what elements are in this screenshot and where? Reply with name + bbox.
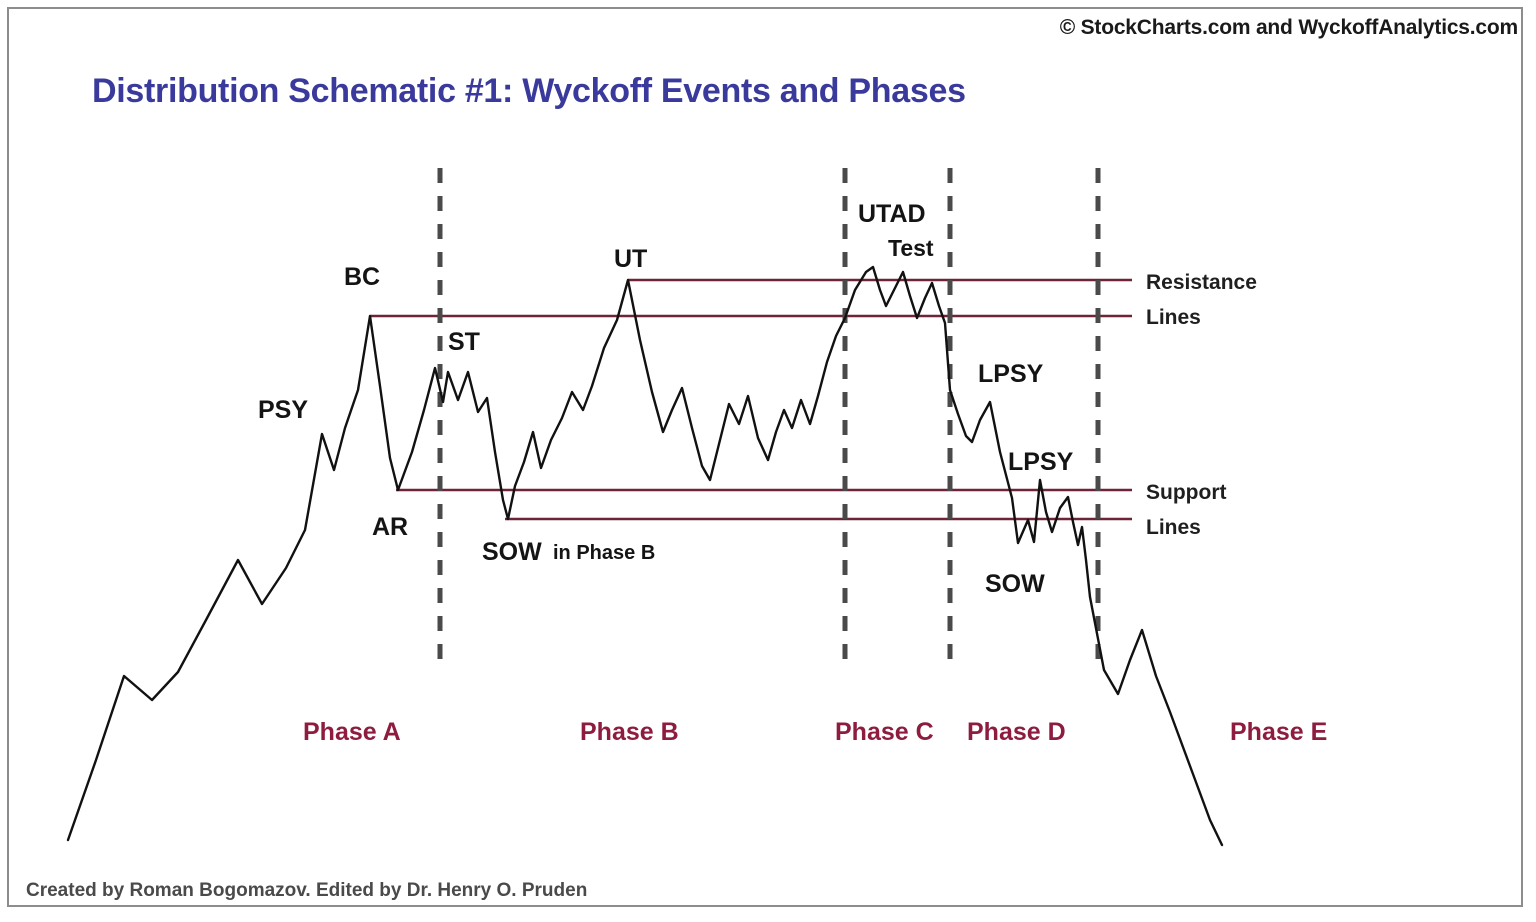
event-label-lpsy-1: LPSY <box>978 360 1044 388</box>
event-label-sow-d: SOW <box>985 570 1045 598</box>
event-label-ut: UT <box>614 245 647 273</box>
event-label-utad: UTAD <box>858 200 926 228</box>
event-label-psy: PSY <box>258 396 308 424</box>
phase-label-phase-b: Phase B <box>580 718 679 746</box>
event-label-bc: BC <box>344 263 380 291</box>
phase-label-phase-d: Phase D <box>967 718 1066 746</box>
level-lines-group <box>370 280 1132 519</box>
event-label-st: ST <box>448 328 480 356</box>
level-legend-resistance-line2: Lines <box>1146 306 1201 329</box>
event-label-lpsy-2: LPSY <box>1008 448 1074 476</box>
phase-label-phase-c: Phase C <box>835 718 934 746</box>
level-legend-support-line2: Lines <box>1146 516 1201 539</box>
event-label-test: Test <box>888 235 934 261</box>
wyckoff-distribution-chart: PSYBCARSTSOWin Phase BUTUTADTestLPSYLPSY… <box>0 0 1536 922</box>
event-label-sow-b: SOW <box>482 538 542 566</box>
level-legend-resistance-line1: Resistance <box>1146 271 1257 294</box>
event-label-sow-b-suffix: in Phase B <box>553 542 655 564</box>
level-legend-support-line1: Support <box>1146 481 1226 504</box>
level-legend-group: ResistanceLinesSupportLines <box>1146 271 1257 539</box>
schematic-page: © StockCharts.com and WyckoffAnalytics.c… <box>0 0 1536 922</box>
event-label-ar: AR <box>372 513 408 541</box>
phase-label-phase-a: Phase A <box>303 718 401 746</box>
phase-label-phase-e: Phase E <box>1230 718 1327 746</box>
